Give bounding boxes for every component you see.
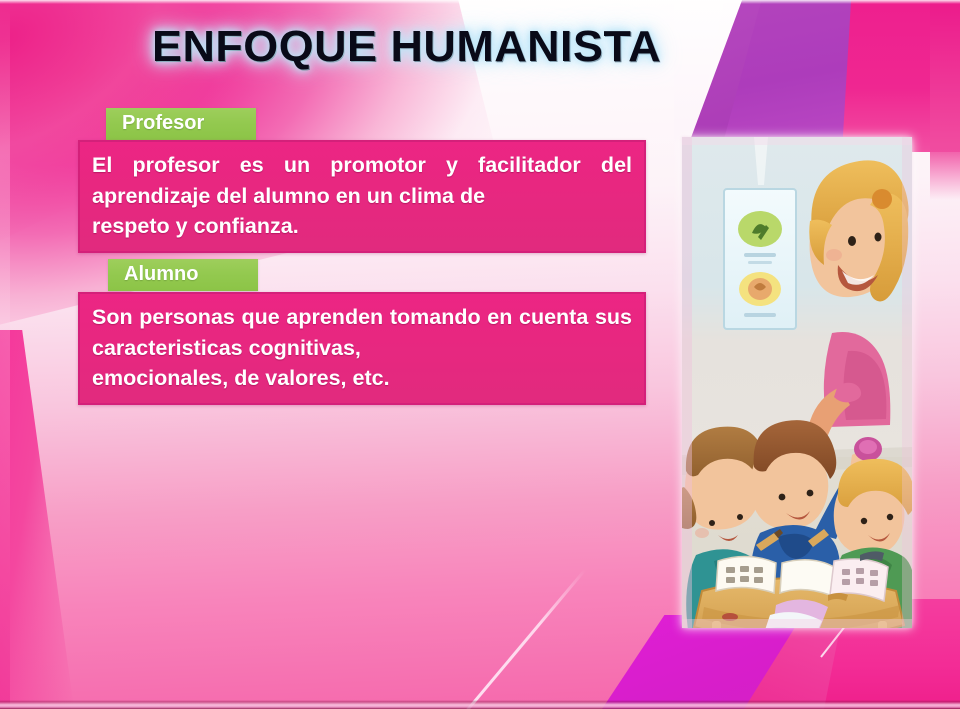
section-tag-alumno-label: Alumno: [124, 263, 198, 285]
top-edge-strip: [0, 0, 960, 4]
section-tag-profesor: Profesor: [106, 108, 256, 140]
section-tag-profesor-label: Profesor: [122, 112, 204, 134]
bottom-edge-strip: [0, 700, 960, 709]
section-tag-alumno: Alumno: [108, 259, 258, 291]
section-body-alumno: Son personas que aprenden tomando en cue…: [78, 292, 646, 405]
slide-title: ENFOQUE HUMANISTA: [152, 22, 661, 72]
left-edge-band: [0, 0, 10, 709]
section-body-alumno-line-1: Son personas que aprenden tomando en cue…: [92, 302, 632, 363]
section-body-profesor-line-1: El profesor es un promotor y facilitador…: [92, 150, 632, 211]
classroom-children-illustration: [682, 137, 912, 628]
section-body-alumno-line-2: emocionales, de valores, etc.: [92, 363, 632, 394]
top-right-edge-band: [930, 0, 960, 200]
slide-canvas: ENFOQUE HUMANISTA Profesor El profesor e…: [0, 0, 960, 709]
section-body-profesor-line-2: respeto y confianza.: [92, 211, 632, 242]
section-body-profesor: El profesor es un promotor y facilitador…: [78, 140, 646, 253]
